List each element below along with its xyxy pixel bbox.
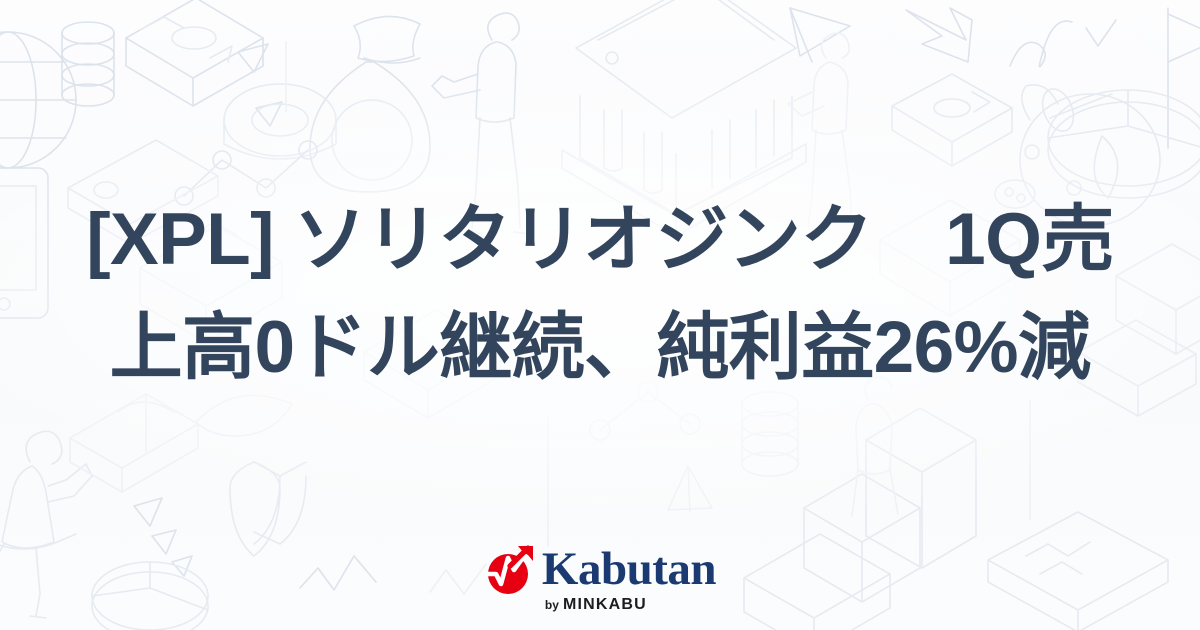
money-bag-icon bbox=[310, 16, 430, 192]
pyramid-icon bbox=[790, 8, 850, 62]
globe-icon bbox=[0, 32, 76, 168]
coin-stack-icon bbox=[62, 22, 114, 106]
shield-icon bbox=[230, 462, 306, 556]
flag-icon bbox=[1168, 8, 1200, 148]
og-image-card: [XPL] ソリタリオジンク 1Q売 上高0ドル継続、純利益26%減 Kabut… bbox=[0, 0, 1200, 630]
brand-byline-name: MINKABU bbox=[563, 596, 647, 614]
brand-byline: by MINKABU bbox=[545, 596, 647, 614]
brand-byline-prefix: by bbox=[545, 598, 559, 612]
pie-chart-icon bbox=[1048, 90, 1200, 198]
brand-logo: Kabutan by MINKABU bbox=[0, 543, 1200, 614]
headline-line-2: 上高0ドル継続、純利益26%減 bbox=[46, 294, 1154, 402]
headline-line-1: [XPL] ソリタリオジンク 1Q売 bbox=[46, 186, 1154, 294]
page-title: [XPL] ソリタリオジンク 1Q売 上高0ドル継続、純利益26%減 bbox=[0, 186, 1200, 402]
triangle-cursor-icon bbox=[238, 44, 282, 126]
down-arrow-icon bbox=[906, 8, 972, 62]
pyramid-icon bbox=[668, 466, 712, 512]
open-book-icon bbox=[70, 394, 198, 492]
kabutan-arrow-chart-icon bbox=[484, 544, 536, 596]
brand-logo-inner: Kabutan by MINKABU bbox=[484, 543, 716, 614]
life-ring-icon bbox=[224, 84, 336, 159]
brand-logo-text: Kabutan by MINKABU bbox=[542, 543, 716, 614]
banknote-icon bbox=[892, 74, 1012, 166]
coin-stack-icon bbox=[742, 392, 798, 476]
brand-wordmark: Kabutan bbox=[542, 546, 716, 593]
line-chart-icon bbox=[1010, 20, 1116, 67]
banknote-icon bbox=[126, 0, 263, 106]
